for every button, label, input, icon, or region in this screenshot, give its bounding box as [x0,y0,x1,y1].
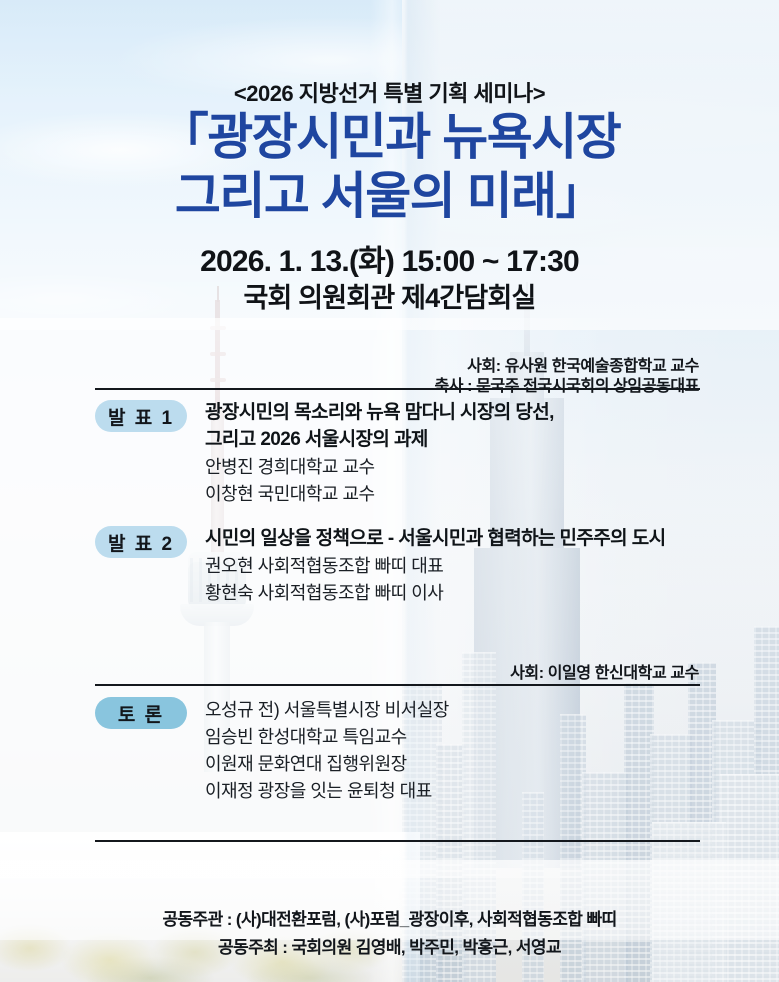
divider-bottom [95,840,700,842]
divider-top [95,388,700,390]
title-line-2: 그리고 서울의 미래」 [0,167,779,226]
panel-member: 이원재 문화연대 집행위원장 [205,751,725,778]
co-management-line: 공동주관 : (사)대전환포럼, (사)포럼_광장이후, 사회적협동조합 빠띠 [0,905,779,930]
panel-member: 이재정 광장을 잇는 윤퇴청 대표 [205,778,725,805]
panel-moderator: 사회: 이일영 한신대학교 교수 [510,659,699,683]
panel-member: 임승빈 한성대학교 특임교수 [205,724,725,751]
session-2-body: 시민의 일상을 정책으로 - 서울시민과 협력하는 민주주의 도시 권오현 사회… [205,526,725,607]
session-1-title-line-1: 광장시민의 목소리와 뉴욕 맘다니 시장의 당선, [205,400,725,427]
co-hosts-line: 공동주최 : 국회의원 김영배, 박주민, 박홍근, 서영교 [0,933,779,958]
panel-body: 오성규 전) 서울특별시장 비서실장 임승빈 한성대학교 특임교수 이원재 문화… [205,697,725,805]
congratulatory-remarks: 축사 : 문국주 전국시국회의 상임공동대표 [434,372,699,396]
title-line-1: 「광장시민과 뉴욕시장 [0,108,779,167]
poster-title: 「광장시민과 뉴욕시장 그리고 서울의 미래」 [0,108,779,226]
divider-middle [95,684,700,686]
session-1-speaker: 안병진 경희대학교 교수 [205,454,725,481]
session-1-title-line-2: 그리고 2026 서울시장의 과제 [205,427,725,454]
badge-session-1: 발 표 1 [95,400,187,432]
session-1-body: 광장시민의 목소리와 뉴욕 맘다니 시장의 당선, 그리고 2026 서울시장의… [205,400,725,508]
seminar-poster: <2026 지방선거 특별 기획 세미나> 「광장시민과 뉴욕시장 그리고 서울… [0,0,779,982]
event-datetime: 2026. 1. 13.(화) 15:00 ~ 17:30 [0,236,779,280]
badge-session-2: 발 표 2 [95,526,187,558]
session-2-speaker: 황현숙 사회적협동조합 빠띠 이사 [205,580,725,607]
badge-panel: 토 론 [95,697,187,729]
session-2-title-line-1: 시민의 일상을 정책으로 - 서울시민과 협력하는 민주주의 도시 [205,526,725,553]
event-venue: 국회 의원회관 제4간담회실 [0,276,779,315]
panel-member: 오성규 전) 서울특별시장 비서실장 [205,697,725,724]
session-1-speaker: 이창현 국민대학교 교수 [205,481,725,508]
poster-kicker: <2026 지방선거 특별 기획 세미나> [0,76,779,108]
session-2-speaker: 권오현 사회적협동조합 빠띠 대표 [205,553,725,580]
